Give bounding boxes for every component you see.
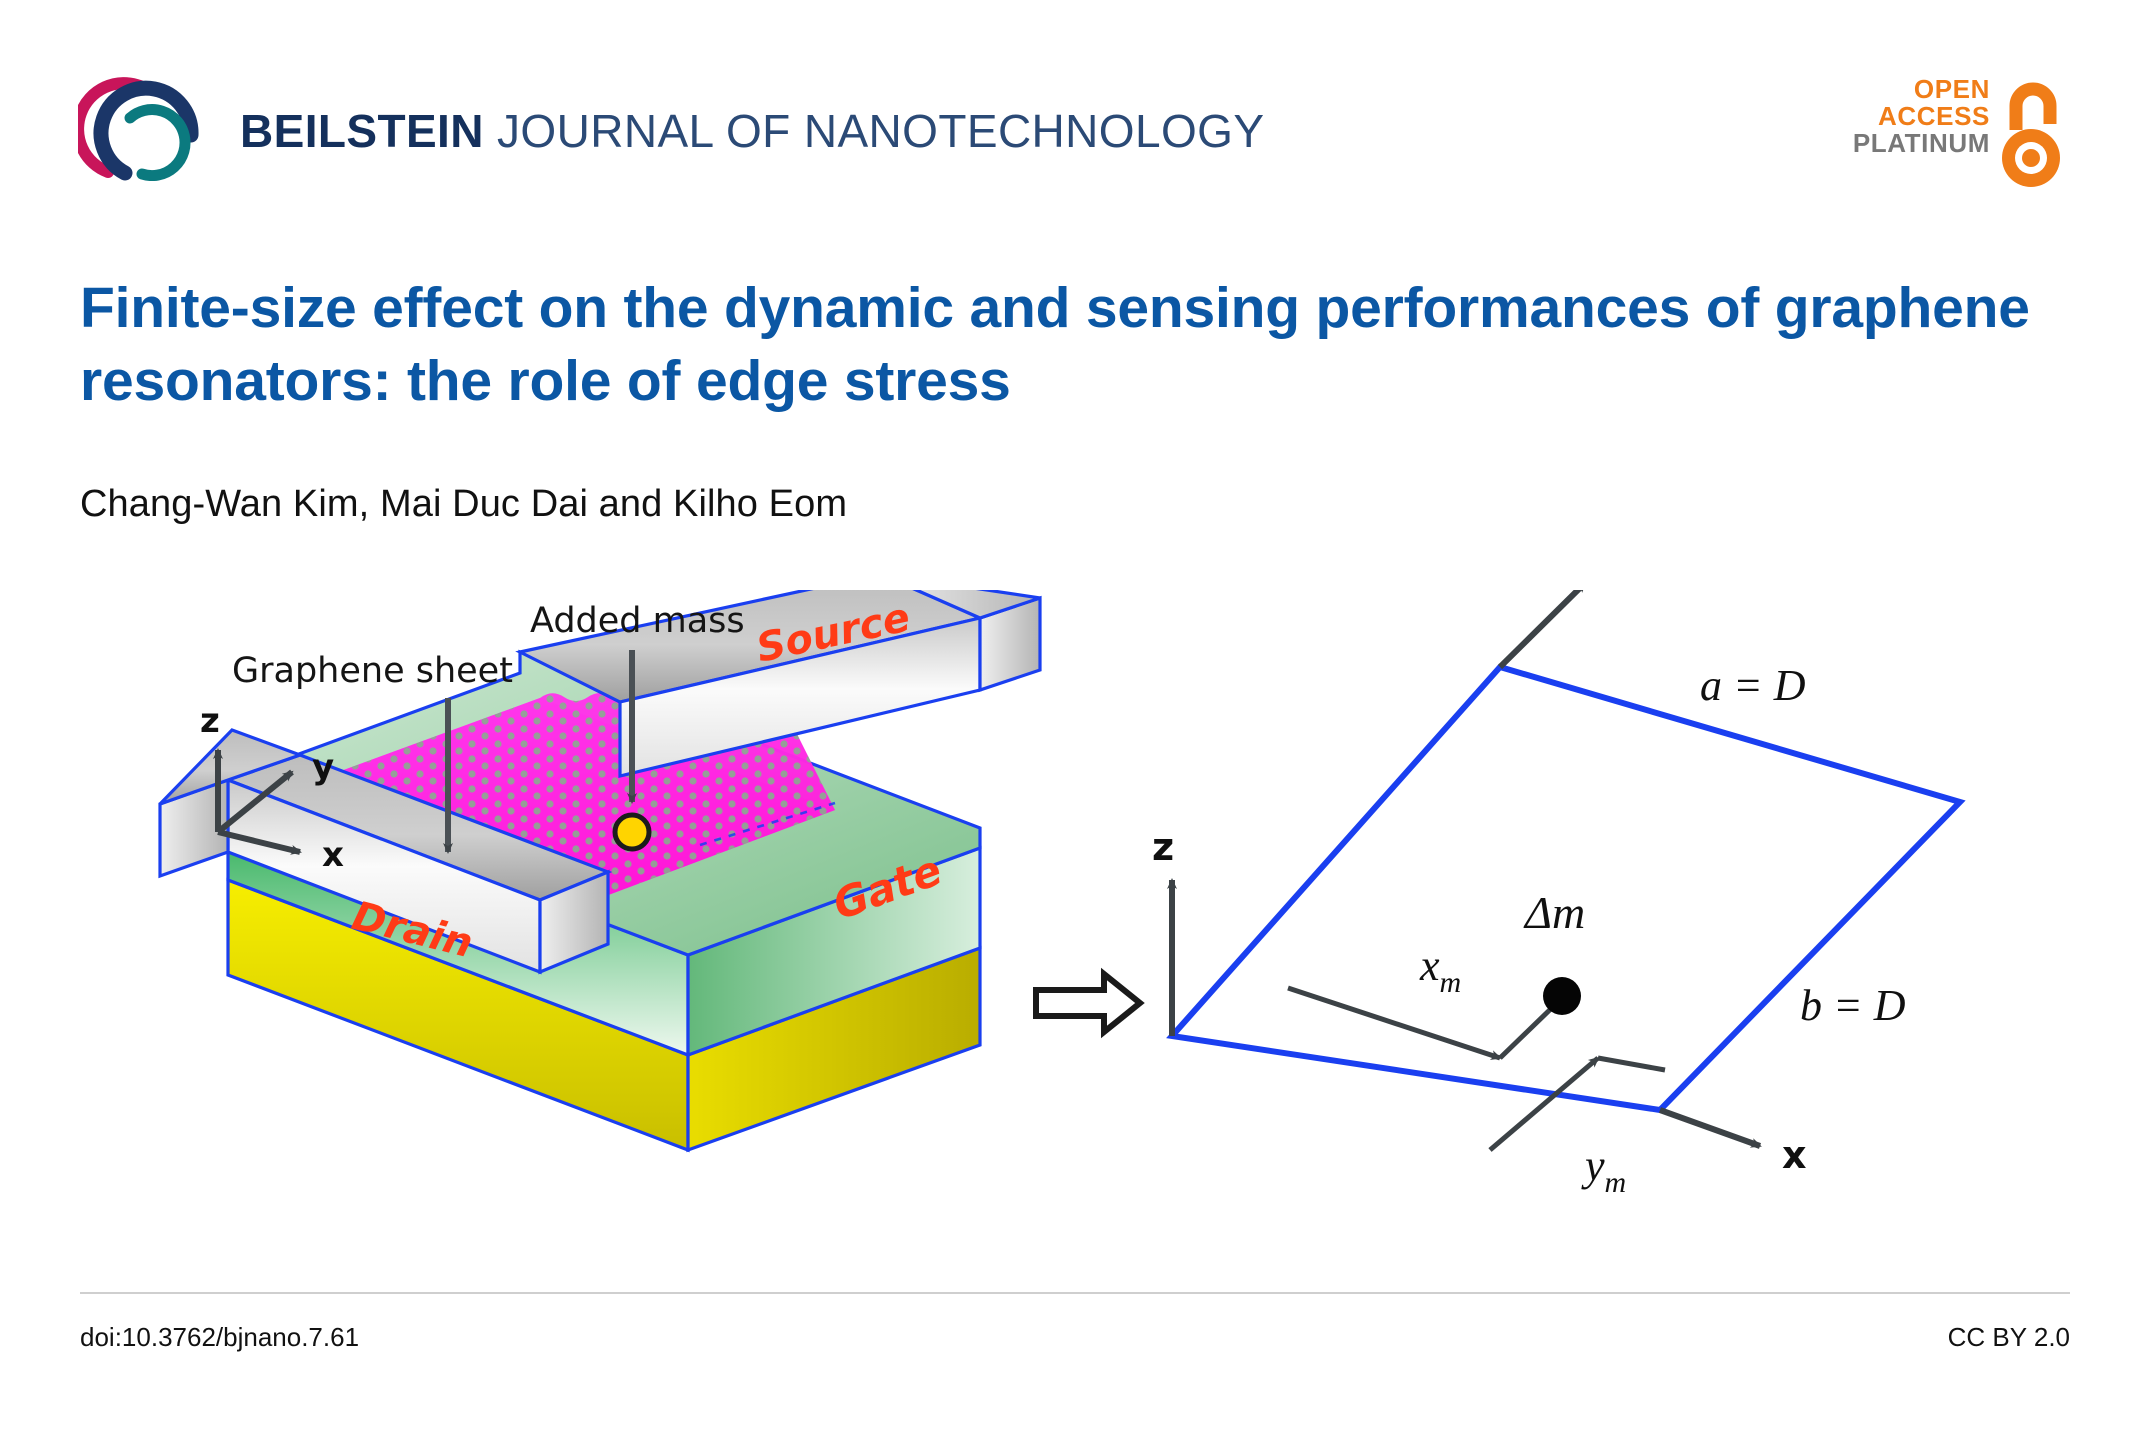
plate-model-schematic: y z x a = D b — [1152, 590, 1960, 1199]
open-access-badge: OPEN ACCESS PLATINUM — [1868, 74, 2068, 196]
axis-label-z-left: z — [200, 701, 220, 741]
axis-label-z-right: z — [1152, 825, 1174, 869]
article-title: Finite-size effect on the dynamic and se… — [80, 272, 2040, 418]
license-text: CC BY 2.0 — [1948, 1322, 2070, 1353]
open-lock-icon — [1994, 78, 2068, 190]
xm-measure — [1288, 988, 1560, 1058]
axis-label-y-left: y — [312, 747, 334, 787]
open-access-line-access: ACCESS — [1853, 103, 1990, 130]
delta-m-dot — [1543, 977, 1581, 1015]
3d-device-schematic: Source Drain Gate — [160, 590, 1040, 1150]
ym-label: ym — [1581, 1141, 1626, 1199]
added-mass-label: Added mass — [530, 601, 745, 641]
graphene-sheet-label: Graphene sheet — [232, 651, 513, 691]
article-cover-page: BEILSTEIN JOURNAL OF NANOTECHNOLOGY OPEN… — [0, 0, 2150, 1445]
doi-text: doi:10.3762/bjnano.7.61 — [80, 1322, 359, 1353]
right-arrow-outline — [1036, 974, 1140, 1032]
masthead: BEILSTEIN JOURNAL OF NANOTECHNOLOGY OPEN… — [0, 0, 2150, 215]
open-access-line-open: OPEN — [1853, 76, 1990, 103]
figure-container: Source Drain Gate — [0, 590, 2150, 1250]
journal-brand: BEILSTEIN JOURNAL OF NANOTECHNOLOGY — [240, 104, 1264, 158]
added-mass-dot — [615, 815, 649, 849]
article-authors: Chang-Wan Kim, Mai Duc Dai and Kilho Eom — [80, 483, 847, 526]
brand-light: JOURNAL OF NANOTECHNOLOGY — [484, 105, 1265, 157]
beilstein-spiral-logo — [78, 73, 200, 181]
brand-bold: BEILSTEIN — [240, 105, 484, 157]
xm-label: xm — [1419, 941, 1461, 999]
axis-label-x-right: x — [1782, 1133, 1807, 1177]
axis-y-right — [1500, 590, 1585, 667]
delta-m-label: Δm — [1523, 887, 1585, 938]
footer-divider — [80, 1292, 2070, 1294]
figure-svg: Source Drain Gate — [0, 590, 2150, 1250]
open-access-text: OPEN ACCESS PLATINUM — [1853, 76, 1990, 156]
open-access-line-platinum: PLATINUM — [1853, 130, 1990, 157]
plate-side-b-label: b = D — [1800, 981, 1906, 1030]
plate-side-a-label: a = D — [1700, 661, 1806, 710]
axis-x-right — [1660, 1110, 1760, 1146]
axis-label-x-left: x — [322, 835, 344, 875]
